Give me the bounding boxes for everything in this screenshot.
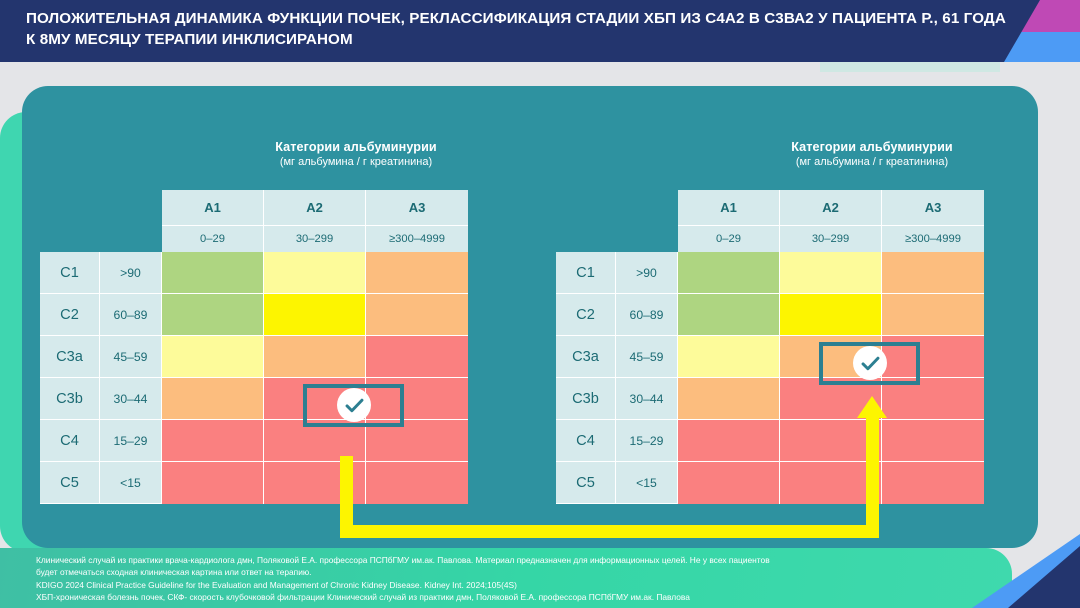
grid-corner-spacer <box>40 190 100 226</box>
cell-c3a-a2 <box>264 336 366 378</box>
check-badge-before <box>337 388 371 422</box>
grid-corner-spacer-4 <box>100 226 162 252</box>
heatmap-grid-before: А1 А2 А3 0–29 30–299 ≥300–4999 С1 >90 С2… <box>40 190 468 504</box>
albuminuria-subtitle-text: (мг альбумина / г креатинина) <box>205 156 507 168</box>
row-range-c2: 60–89 <box>100 294 162 336</box>
row-range-c3a-right: 45–59 <box>616 336 678 378</box>
cell-c1-a3-right <box>882 252 984 294</box>
cell-c4-a1-right <box>678 420 780 462</box>
footer-line-2: будет отмечаться сходная клиническая кар… <box>36 566 936 578</box>
cell-c2-a3 <box>366 294 468 336</box>
row-header-c4-right: С4 <box>556 420 616 462</box>
cell-c1-a2 <box>264 252 366 294</box>
column-range-a3: ≥300–4999 <box>366 226 468 252</box>
cell-c5-a3-right <box>882 462 984 504</box>
albuminuria-title-text: Категории альбуминурии <box>205 140 507 154</box>
row-range-c2-right: 60–89 <box>616 294 678 336</box>
footer-line-4: ХБП-хроническая болезнь почек, СКФ- скор… <box>36 591 936 603</box>
cell-c2-a2-right <box>780 294 882 336</box>
row-header-c3b-right: С3b <box>556 378 616 420</box>
grid-corner-spacer-r4 <box>616 226 678 252</box>
footer-line-3: KDIGO 2024 Clinical Practice Guideline f… <box>36 579 936 591</box>
check-icon-2 <box>860 353 881 374</box>
cell-c4-a1 <box>162 420 264 462</box>
cell-c5-a3 <box>366 462 468 504</box>
row-range-c4: 15–29 <box>100 420 162 462</box>
cell-c1-a2-right <box>780 252 882 294</box>
grid-corner-spacer-3 <box>40 226 100 252</box>
row-header-c3b: С3b <box>40 378 100 420</box>
cell-c2-a2 <box>264 294 366 336</box>
slide-root: ПОЛОЖИТЕЛЬНАЯ ДИНАМИКА ФУНКЦИИ ПОЧЕК, РЕ… <box>0 0 1080 608</box>
cell-c1-a3 <box>366 252 468 294</box>
row-header-c5: С5 <box>40 462 100 504</box>
albuminuria-subtitle-text-2: (мг альбумина / г креатинина) <box>721 156 1023 168</box>
cell-c2-a3-right <box>882 294 984 336</box>
grid-corner-spacer-r2 <box>616 190 678 226</box>
check-badge-after <box>853 346 887 380</box>
column-header-a1-right: А1 <box>678 190 780 226</box>
footer-disclaimer: Клинический случай из практики врача-кар… <box>36 554 936 604</box>
cell-c5-a1 <box>162 462 264 504</box>
row-header-c5-right: С5 <box>556 462 616 504</box>
column-range-a1: 0–29 <box>162 226 264 252</box>
row-range-c3b-right: 30–44 <box>616 378 678 420</box>
cell-c1-a1-right <box>678 252 780 294</box>
grid-corner-spacer-2 <box>100 190 162 226</box>
row-range-c5-right: <15 <box>616 462 678 504</box>
row-header-c1: С1 <box>40 252 100 294</box>
row-header-c4: С4 <box>40 420 100 462</box>
row-range-c5: <15 <box>100 462 162 504</box>
row-header-c1-right: С1 <box>556 252 616 294</box>
column-header-a1: А1 <box>162 190 264 226</box>
grid-corner-spacer-r1 <box>556 190 616 226</box>
connector-segment-horizontal <box>340 525 878 538</box>
cell-c3b-a1-right <box>678 378 780 420</box>
column-range-a1-right: 0–29 <box>678 226 780 252</box>
cell-c3b-a1 <box>162 378 264 420</box>
cell-c2-a1-right <box>678 294 780 336</box>
cell-c3a-a1-right <box>678 336 780 378</box>
connector-segment-vertical-right <box>866 414 879 538</box>
albuminuria-title-text-2: Категории альбуминурии <box>721 140 1023 154</box>
row-range-c3a: 45–59 <box>100 336 162 378</box>
column-header-a2-right: А2 <box>780 190 882 226</box>
grid-corner-spacer-r3 <box>556 226 616 252</box>
cell-c1-a1 <box>162 252 264 294</box>
cell-c3a-a1 <box>162 336 264 378</box>
albuminuria-title-right: Категории альбуминурии (мг альбумина / г… <box>721 140 1023 168</box>
arrow-up-icon <box>857 396 887 418</box>
row-header-c2: С2 <box>40 294 100 336</box>
column-header-a3-right: А3 <box>882 190 984 226</box>
cell-c4-a3-right <box>882 420 984 462</box>
row-header-c2-right: С2 <box>556 294 616 336</box>
row-range-c1: >90 <box>100 252 162 294</box>
column-header-a2: А2 <box>264 190 366 226</box>
column-range-a2-right: 30–299 <box>780 226 882 252</box>
cell-c3a-a3 <box>366 336 468 378</box>
column-range-a3-right: ≥300–4999 <box>882 226 984 252</box>
row-header-c3a: С3a <box>40 336 100 378</box>
row-range-c3b: 30–44 <box>100 378 162 420</box>
cell-c5-a1-right <box>678 462 780 504</box>
cell-c2-a1 <box>162 294 264 336</box>
column-range-a2: 30–299 <box>264 226 366 252</box>
check-icon <box>344 395 365 416</box>
row-header-c3a-right: С3a <box>556 336 616 378</box>
row-range-c1-right: >90 <box>616 252 678 294</box>
row-range-c4-right: 15–29 <box>616 420 678 462</box>
page-title: ПОЛОЖИТЕЛЬНАЯ ДИНАМИКА ФУНКЦИИ ПОЧЕК, РЕ… <box>26 8 1006 50</box>
footer-line-1: Клинический случай из практики врача-кар… <box>36 554 936 566</box>
column-header-a3: А3 <box>366 190 468 226</box>
albuminuria-title-left: Категории альбуминурии (мг альбумина / г… <box>205 140 507 168</box>
